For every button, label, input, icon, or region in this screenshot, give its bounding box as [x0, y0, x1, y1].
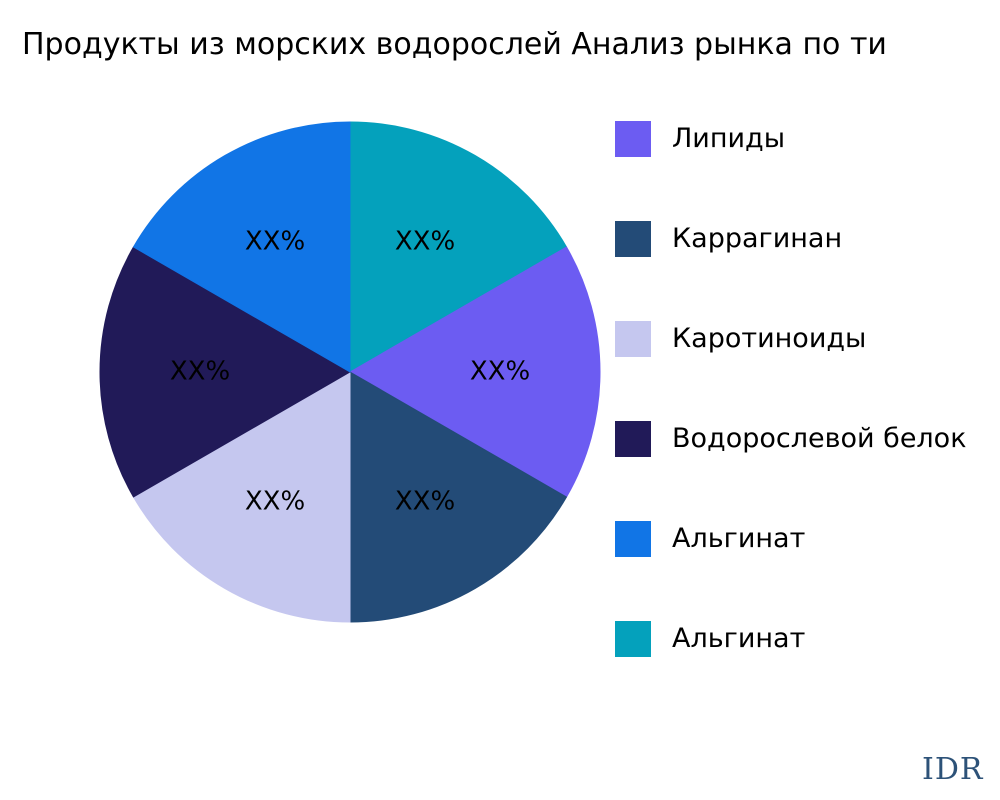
pie-chart-figure: Продукты из морских водорослей Анализ ры… — [0, 0, 1000, 800]
legend-item-label: Каррагинан — [672, 218, 842, 260]
legend-swatch-icon — [615, 321, 651, 357]
pie-slice-label-1: XX% — [395, 227, 455, 257]
legend-item-label: Альгинат — [672, 618, 805, 660]
pie-slice-label-5: XX% — [170, 357, 230, 387]
legend-item-label: Каротиноиды — [672, 318, 866, 360]
pie-slice-label-2: XX% — [470, 357, 530, 387]
legend-item-4[interactable]: Водорослевой белок — [615, 421, 1000, 521]
pie-svg: XX%XX%XX%XX%XX%XX% — [0, 0, 620, 800]
pie-slice-label-6: XX% — [245, 227, 305, 257]
legend-item-label: Липиды — [672, 118, 785, 160]
pie-plot-area: XX%XX%XX%XX%XX%XX% — [0, 0, 620, 800]
legend-swatch-icon — [615, 121, 651, 157]
legend-item-label: Водорослевой белок — [672, 418, 967, 460]
pie-slice-label-3: XX% — [395, 486, 455, 516]
legend-item-5[interactable]: Альгинат — [615, 521, 1000, 621]
legend-swatch-icon — [615, 521, 651, 557]
legend-item-6[interactable]: Альгинат — [615, 621, 1000, 721]
legend-swatch-icon — [615, 221, 651, 257]
pie-slice-label-4: XX% — [245, 486, 305, 516]
legend-swatch-icon — [615, 421, 651, 457]
legend-item-1[interactable]: Липиды — [615, 121, 1000, 221]
legend-item-label: Альгинат — [672, 518, 805, 560]
legend-item-3[interactable]: Каротиноиды — [615, 321, 1000, 421]
legend: ЛипидыКаррагинанКаротиноидыВодорослевой … — [615, 121, 1000, 721]
watermark: IDR — [922, 752, 984, 787]
legend-item-2[interactable]: Каррагинан — [615, 221, 1000, 321]
legend-swatch-icon — [615, 621, 651, 657]
